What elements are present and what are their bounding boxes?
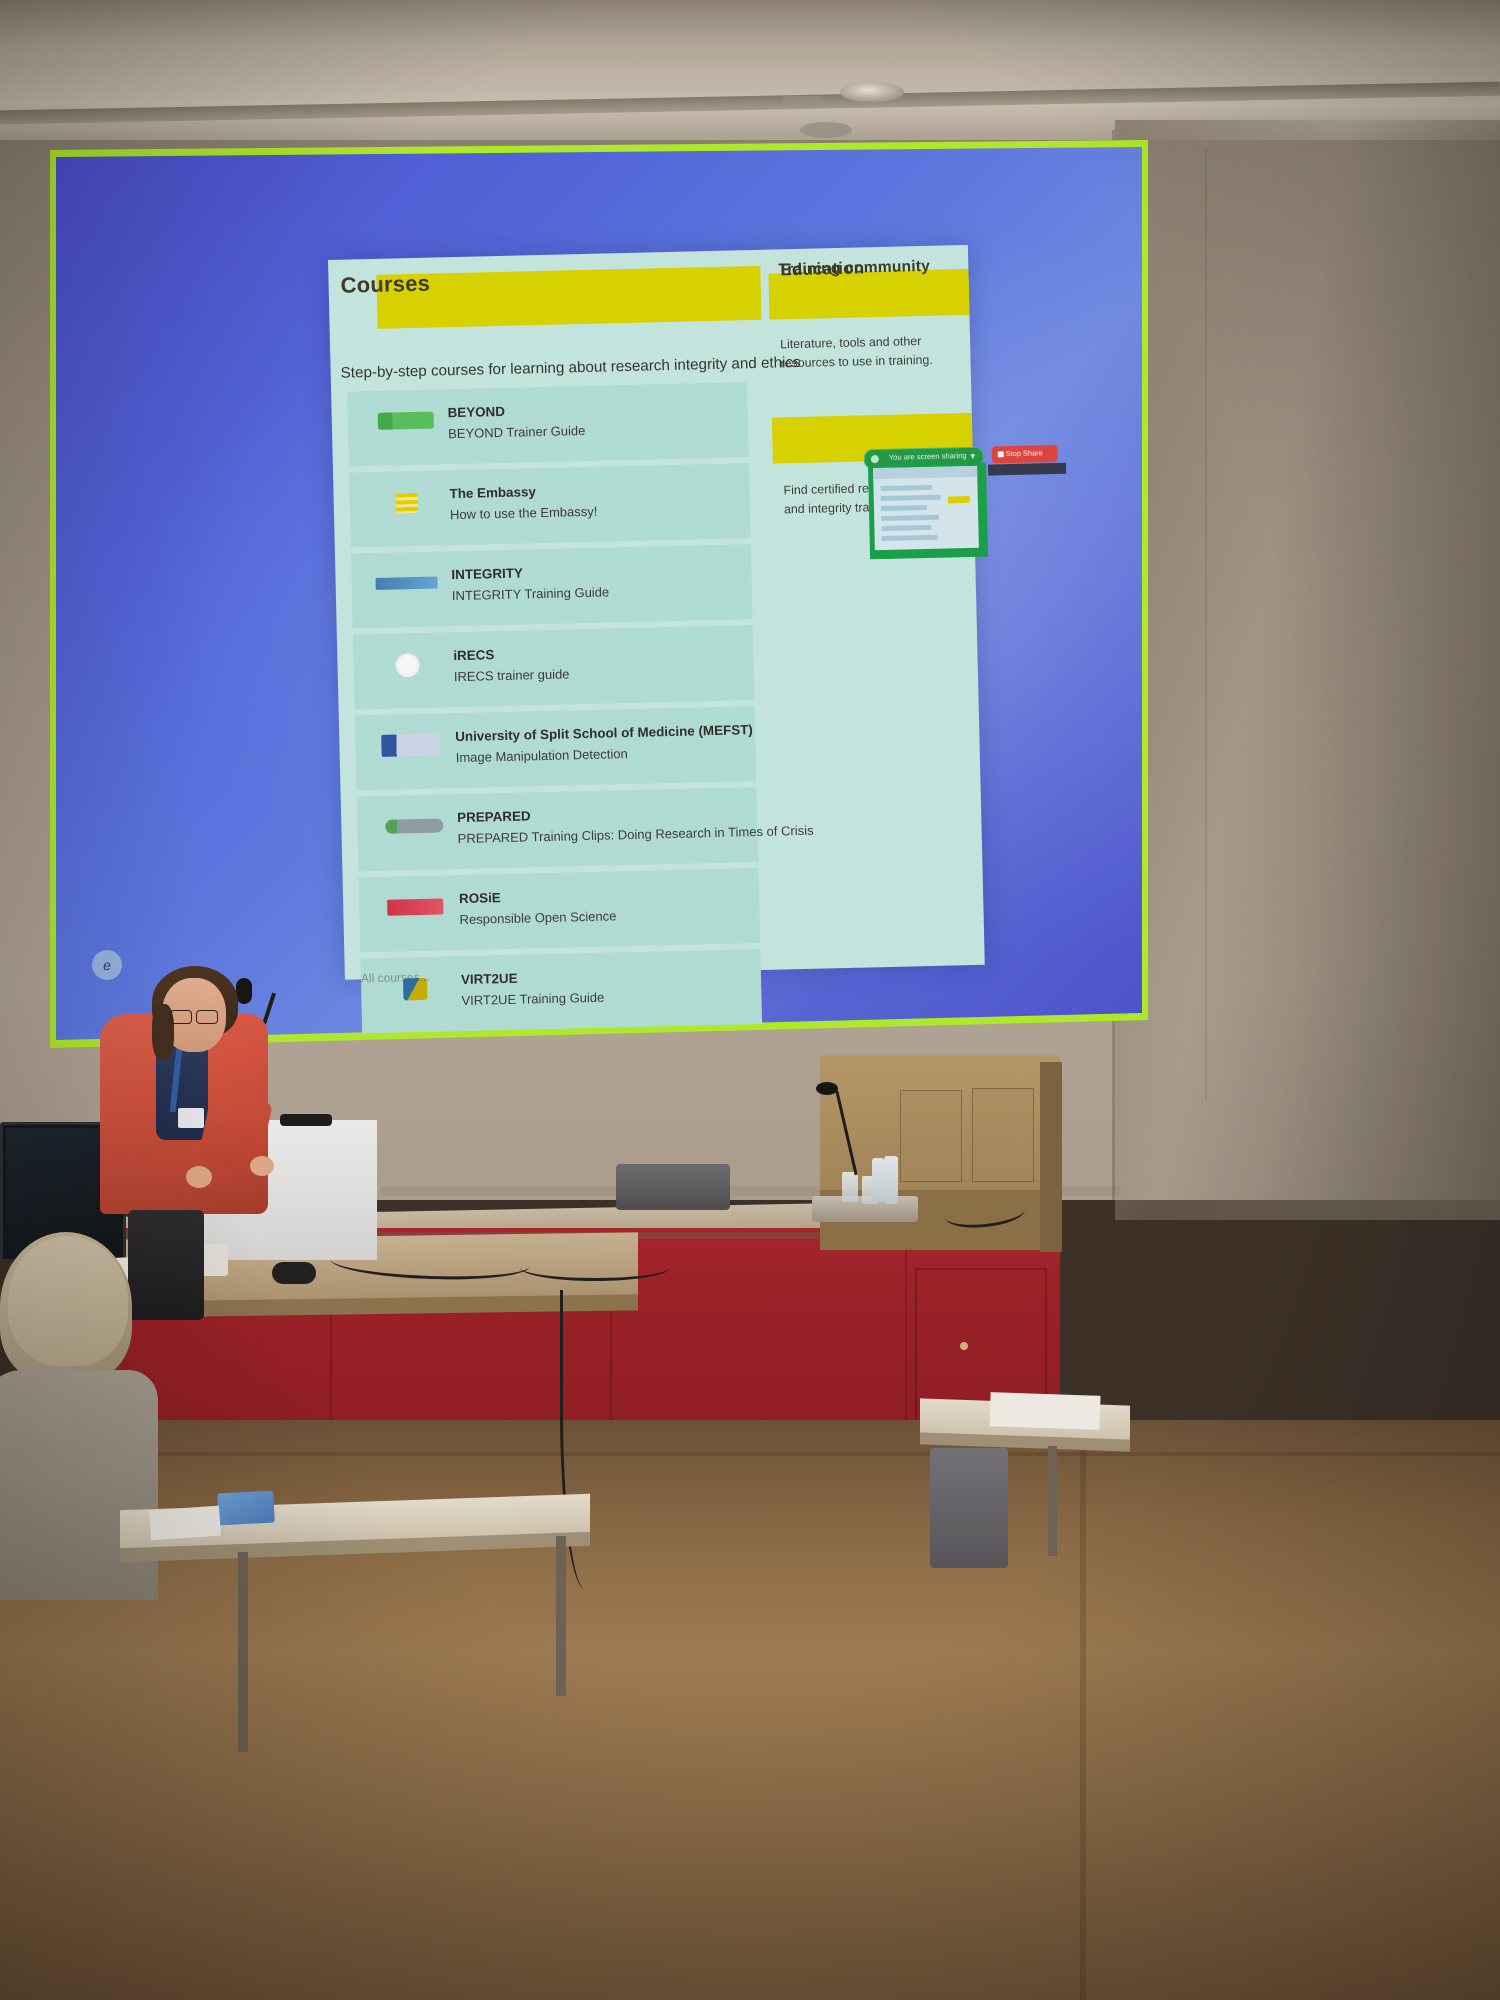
water-bottle [872,1158,884,1202]
course-desc: Responsible Open Science [459,908,616,927]
stop-share-button[interactable]: Stop Share [992,445,1058,463]
chevron-down-icon[interactable]: ▼ [969,453,976,460]
mefst-logo [381,734,440,757]
glasses-icon [170,1010,218,1022]
ceiling-vent [782,96,822,104]
side-wall [1115,120,1500,1220]
mouse [272,1262,316,1284]
microphone-head [816,1082,838,1095]
course-desc: PREPARED Training Clips: Doing Research … [457,823,813,846]
presenter-mic-base [280,1114,332,1126]
course-desc: How to use the Embassy! [450,504,598,522]
courses-subtitle: Step-by-step courses for learning about … [340,354,770,383]
screen-share-icon [871,455,879,463]
irecs-logo [395,653,420,678]
toolbar-shadow [988,463,1066,476]
course-desc: BEYOND Trainer Guide [448,423,586,441]
course-row[interactable]: BEYOND BEYOND Trainer Guide [347,382,749,466]
audience-member-head [8,1236,128,1366]
prepared-logo [385,818,443,833]
cable [520,1254,670,1281]
mobile-phone[interactable] [217,1491,275,1526]
thumb-row [880,485,932,491]
table-leg [1048,1446,1057,1556]
presenter-legs [128,1210,204,1320]
thumb-row [881,525,931,531]
course-name: The Embassy [449,484,536,501]
integrity-logo [376,577,438,590]
thumb-row [881,495,941,501]
paper-sheet [989,1392,1100,1430]
course-row[interactable]: iRECS IRECS trainer guide [353,625,755,709]
course-desc: IRECS trainer guide [454,666,570,684]
share-status-label: You are screen sharing [889,451,967,462]
courses-panel: Courses Step-by-step courses for learnin… [328,250,777,980]
table-leg [238,1552,248,1752]
course-name: INTEGRITY [451,565,523,582]
course-desc: Image Manipulation Detection [456,746,628,765]
table-leg [556,1536,566,1696]
course-row[interactable]: University of Split School of Medicine (… [355,706,757,790]
water-glass [842,1172,858,1202]
course-desc: VIRT2UE Training Guide [461,990,604,1008]
audience-member-body [0,1370,158,1600]
share-preview-thumbnail[interactable]: ▲ [868,463,988,560]
chair [930,1448,1008,1568]
floor-seam [1080,1430,1086,2000]
thumb-row [881,505,927,511]
stop-share-label: Stop Share [1006,448,1043,458]
course-name: University of Split School of Medicine (… [455,722,753,744]
course-name: BEYOND [447,404,505,420]
embassy-logo [396,493,418,514]
course-row[interactable]: ROSiE Responsible Open Science [359,868,761,952]
projected-slide: Courses Step-by-step courses for learnin… [328,245,985,980]
thumb-row [881,515,939,521]
presenter-hand [186,1166,212,1188]
panel-knob [960,1342,968,1350]
floor-seam [0,1452,1500,1456]
side-panels: Education Literature, tools and other re… [768,245,985,970]
course-row[interactable]: PREPARED PREPARED Training Clips: Doing … [357,787,759,871]
rosie-logo [387,898,443,915]
name-badge [178,1108,204,1128]
water-bottle [884,1156,898,1204]
share-preview-content [873,466,979,550]
projection-screen: Courses Step-by-step courses for learnin… [44,140,1154,1050]
thumb-header [873,466,977,479]
course-name: ROSiE [459,890,501,906]
course-row[interactable]: The Embassy How to use the Embassy! [349,463,751,547]
chevron-up-icon[interactable]: ▲ [918,550,926,559]
presenter [100,988,270,1258]
course-desc: INTEGRITY Training Guide [452,584,610,603]
lectern-panel [900,1090,962,1182]
wall-seam [1205,150,1207,1100]
courses-header: Courses [340,271,430,299]
stop-square-icon [998,451,1004,457]
course-row[interactable]: VIRT2UE VIRT2UE Training Guide [360,949,762,1033]
lectern-side [1040,1062,1062,1252]
course-row[interactable]: INTEGRITY INTEGRITY Training Guide [351,544,753,628]
courses-list: BEYOND BEYOND Trainer Guide The Embassy … [347,382,762,1039]
course-name: PREPARED [457,808,531,825]
thumb-row [882,535,938,541]
training-community-header: Training community [778,258,930,280]
lecture-hall-photo: Courses Step-by-step courses for learnin… [0,0,1500,2000]
education-body: Literature, tools and other resources to… [780,331,961,372]
course-name: iRECS [453,647,494,663]
screen-share-toolbar[interactable]: You are screen sharing ▼ Stop Share [864,443,1075,488]
thumb-action-button [948,496,970,503]
ceiling-speaker [800,122,852,138]
beyond-logo [378,412,434,430]
chair [616,1164,730,1210]
courses-header-band [376,266,761,329]
presenter-hand [250,1156,274,1176]
lectern-panel [972,1088,1034,1182]
paper-sheet [149,1506,221,1541]
ceiling-light [840,82,904,102]
